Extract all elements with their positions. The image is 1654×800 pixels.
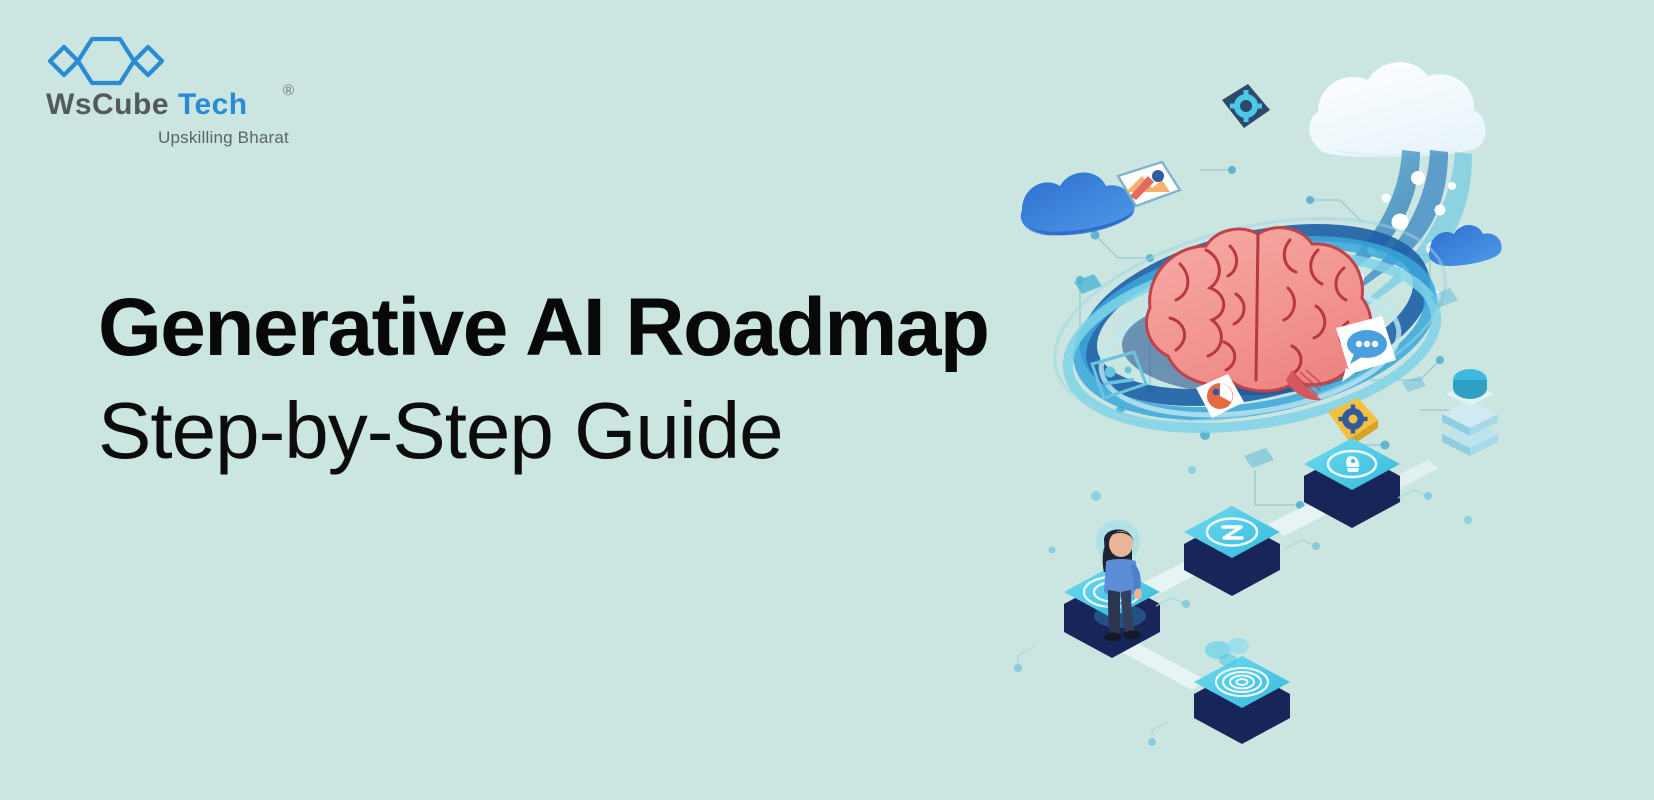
logo[interactable]: WsCube Tech ® Upskilling Bharat [46,36,366,156]
logo-word-primary: WsCube [46,88,169,121]
blue-cloud-left [1021,173,1135,236]
white-cloud [1309,62,1485,157]
card-settings-gear-dark [1222,84,1270,128]
headline-line-1: Generative AI Roadmap [98,280,1098,375]
hexagon-molecule-logo-icon [46,36,176,88]
logo-word-secondary: Tech [169,88,248,121]
banner-root: WsCube Tech ® Upskilling Bharat Generati… [0,0,1654,800]
hex-platform-z[interactable] [1184,506,1280,596]
server-stack [1442,369,1498,456]
logo-wordmark: WsCube Tech [46,90,248,120]
headline-line-2: Step-by-Step Guide [98,383,1098,479]
hex-platform-fingerprint[interactable] [1194,656,1290,744]
ai-brain-network-illustration [1000,50,1560,750]
logo-tagline: Upskilling Bharat [158,128,289,148]
page-title: Generative AI Roadmap Step-by-Step Guide [98,280,1098,479]
registered-trademark-icon: ® [283,82,294,99]
